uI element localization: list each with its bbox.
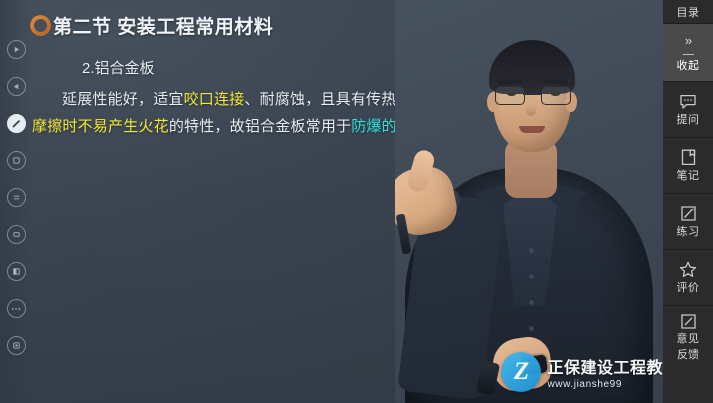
sidebar-item-note-label: 笔记: [677, 170, 700, 183]
presenter-nose: [526, 100, 536, 116]
rewind-icon[interactable]: [7, 77, 26, 96]
stamp-icon[interactable]: [7, 151, 26, 170]
sidebar-item-feedback-label: 意见: [677, 333, 700, 346]
glasses-lens-left: [495, 86, 525, 105]
star-icon: [679, 261, 697, 279]
annotation-toolbar[interactable]: [0, 0, 32, 403]
speech-bubble-icon: [679, 93, 697, 111]
sidebar-item-catalog-label: 目录: [677, 7, 700, 20]
play-icon[interactable]: [7, 40, 26, 59]
sidebar-item-note[interactable]: 笔记: [663, 138, 713, 194]
paragraph-run-4: 的特性，故铝合金板常用于: [169, 118, 351, 135]
pencil-square-icon: [679, 205, 697, 223]
sidebar-item-rating-label: 评价: [677, 282, 700, 295]
sidebar-item-ask[interactable]: 提问: [663, 82, 713, 138]
collapse-underline: [683, 54, 694, 55]
slide-title-row: 第二节 安装工程常用材料: [30, 12, 273, 39]
brand-text: 正保建设工程教 www.jianshe99: [547, 354, 663, 390]
glasses-bridge: [523, 93, 541, 95]
sidebar-item-rating[interactable]: 评价: [663, 250, 713, 306]
slide-subheading: 2.铝合金板: [82, 57, 155, 78]
paragraph-run-1-highlight: 咬口连接: [184, 91, 245, 108]
presenter-video: [395, 0, 663, 403]
more-icon[interactable]: [7, 299, 26, 318]
sidebar-item-feedback-label2: 反馈: [677, 349, 699, 362]
eraser-icon[interactable]: [7, 225, 26, 244]
sidebar-item-catalog[interactable]: 目录: [663, 0, 713, 24]
book-icon: [679, 149, 697, 167]
sidebar-item-collapse[interactable]: » 收起: [663, 24, 713, 82]
video-player-screen: 第二节 安装工程常用材料 2.铝合金板 延展性能好，适宜咬口连接、耐腐蚀，且具有…: [0, 0, 713, 403]
sidebar-item-collapse-label: 收起: [677, 60, 700, 73]
brand-name: 正保建设工程教: [547, 354, 663, 378]
paragraph-run-0: 延展性能好，适宜: [62, 91, 184, 108]
presenter-shirt-buttons: [529, 248, 534, 253]
brand-url: www.jianshe99: [547, 379, 663, 390]
edit-square-icon: [679, 313, 697, 330]
pen-tool-icon[interactable]: [7, 114, 26, 133]
presenter-mouth: [519, 126, 545, 133]
shape-icon[interactable]: [7, 262, 26, 281]
video-stage[interactable]: 第二节 安装工程常用材料 2.铝合金板 延展性能好，适宜咬口连接、耐腐蚀，且具有…: [0, 0, 663, 403]
sidebar-item-ask-label: 提问: [677, 114, 700, 127]
settings-icon[interactable]: [7, 336, 26, 355]
right-sidebar: 目录 » 收起 提问: [663, 0, 713, 403]
brand-watermark: Z 正保建设工程教 www.jianshe99: [501, 349, 663, 395]
brand-logo-icon: Z: [501, 352, 541, 392]
glasses-lens-right: [541, 86, 571, 105]
sidebar-item-feedback[interactable]: 意见 反馈: [663, 306, 713, 362]
orange-ring-icon: [30, 15, 51, 36]
sidebar-item-practice[interactable]: 练习: [663, 194, 713, 250]
lines-icon[interactable]: [7, 188, 26, 207]
sidebar-item-practice-label: 练习: [677, 226, 700, 239]
chevron-double-right-icon: »: [679, 32, 697, 50]
page-title: 第二节 安装工程常用材料: [53, 12, 273, 39]
paragraph-run-3-highlight: 摩擦时不易产生火花: [32, 118, 169, 135]
